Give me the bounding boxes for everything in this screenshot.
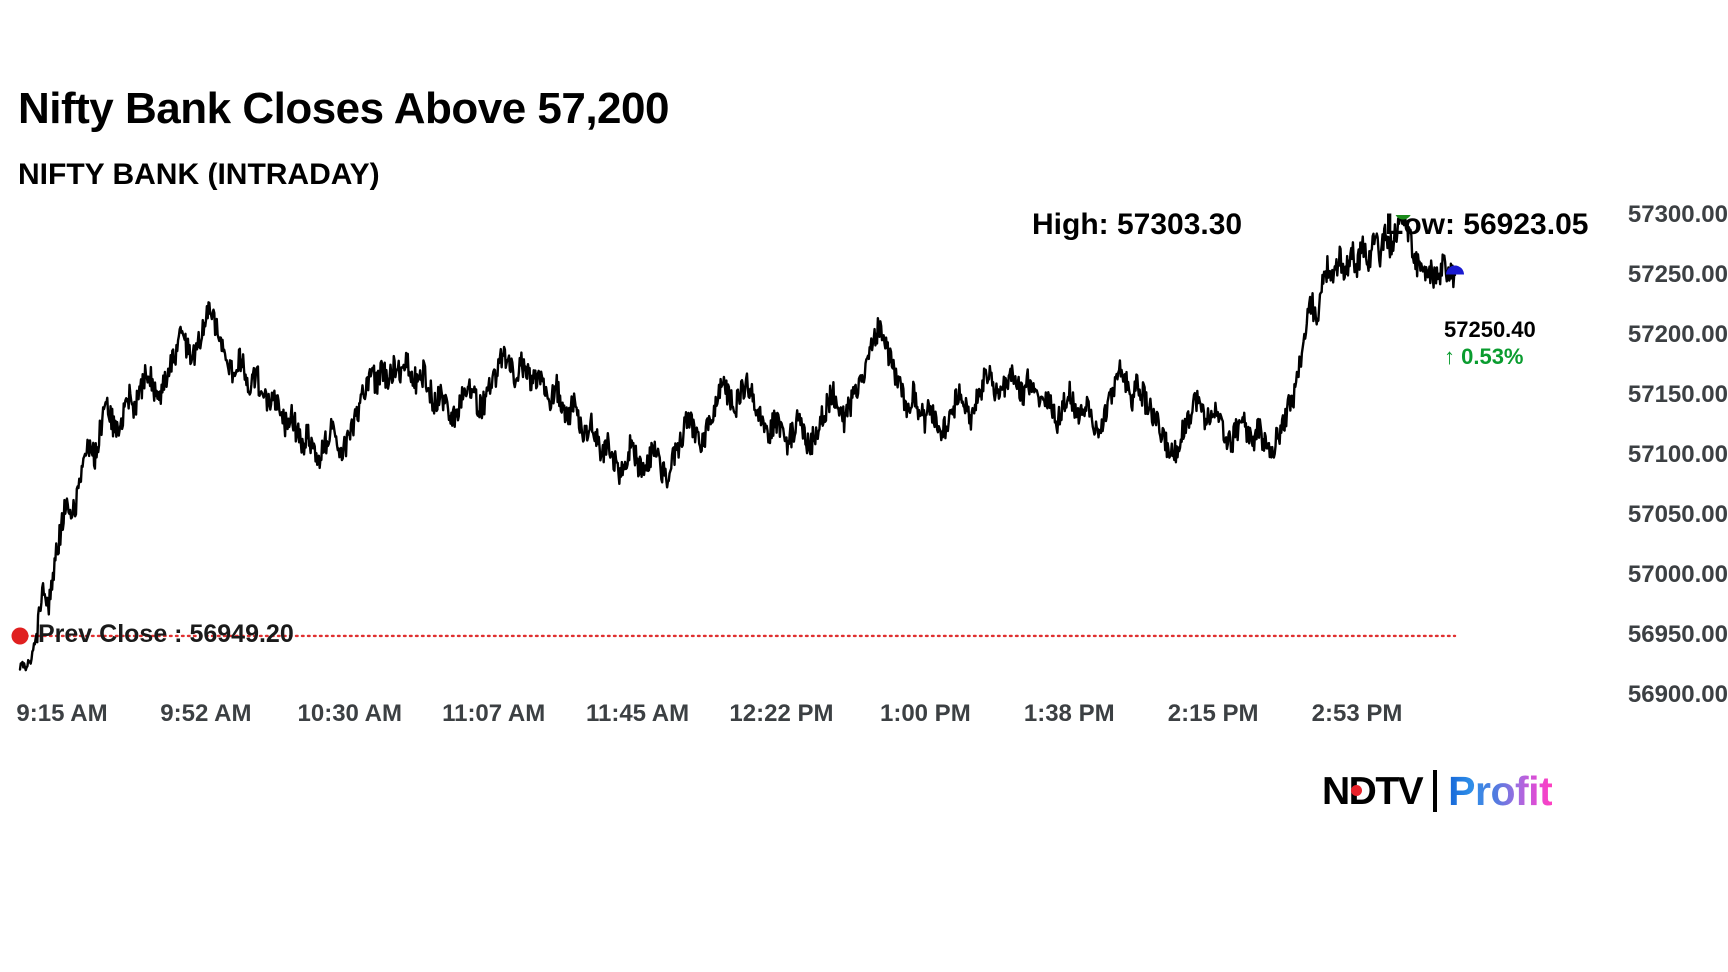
page-subtitle: NIFTY BANK (INTRADAY) <box>18 158 380 192</box>
price-line-path <box>20 215 1455 670</box>
x-tick-label: 1:00 PM <box>880 700 971 728</box>
ndtv-wordmark: NDTV <box>1322 772 1422 811</box>
start-marker-icon <box>12 627 29 644</box>
current-price-change: ↑ 0.53% <box>1444 344 1536 370</box>
y-tick-label: 57250.00 <box>1628 261 1728 289</box>
current-price-value: 57250.40 <box>1444 318 1536 341</box>
x-tick-label: 2:53 PM <box>1312 700 1403 728</box>
x-tick-label: 2:15 PM <box>1168 700 1259 728</box>
x-tick-label: 11:45 AM <box>586 700 689 728</box>
y-tick-label: 56900.00 <box>1628 681 1728 709</box>
y-tick-label: 57150.00 <box>1628 381 1728 409</box>
ndtv-profit-logo: NDTV Profit <box>1322 769 1552 813</box>
x-tick-label: 9:52 AM <box>160 700 251 728</box>
profit-wordmark: Profit <box>1448 771 1552 812</box>
x-tick-label: 12:22 PM <box>729 700 833 728</box>
x-tick-label: 9:15 AM <box>16 700 107 728</box>
page-title: Nifty Bank Closes Above 57,200 <box>18 84 669 134</box>
x-tick-label: 10:30 AM <box>298 700 402 728</box>
prev-close-label: Prev Close : 56949.20 <box>38 620 294 649</box>
y-tick-label: 57200.00 <box>1628 321 1728 349</box>
x-tick-label: 11:07 AM <box>442 700 545 728</box>
y-tick-label: 57300.00 <box>1628 201 1728 229</box>
x-axis-labels: 9:15 AM9:52 AM10:30 AM11:07 AM11:45 AM12… <box>0 700 1590 740</box>
y-axis-labels: 57300.0057250.0057200.0057150.0057100.00… <box>1595 215 1728 695</box>
y-tick-label: 57100.00 <box>1628 441 1728 469</box>
current-price-tag: 57250.40 ↑ 0.53% <box>1444 318 1536 370</box>
y-tick-label: 56950.00 <box>1628 621 1728 649</box>
y-tick-label: 57050.00 <box>1628 501 1728 529</box>
y-tick-label: 57000.00 <box>1628 561 1728 589</box>
x-tick-label: 1:38 PM <box>1024 700 1115 728</box>
ndtv-text: NDTV <box>1322 770 1422 813</box>
logo-divider <box>1433 770 1437 812</box>
ndtv-red-dot-icon <box>1351 785 1362 796</box>
